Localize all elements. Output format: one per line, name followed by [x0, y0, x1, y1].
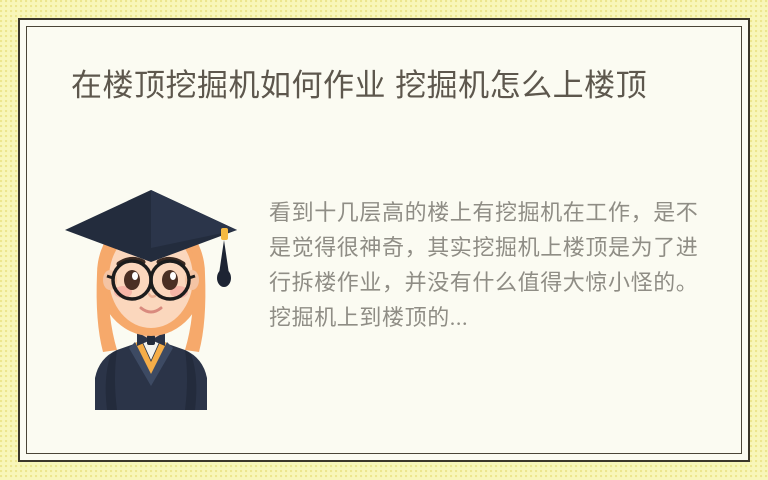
article-body: 看到十几层高的楼上有挖掘机在工作，是不是觉得很神奇，其实挖掘机上楼顶是为了进行拆… [269, 195, 713, 335]
page-root: 在楼顶挖掘机如何作业 挖掘机怎么上楼顶 [0, 0, 768, 480]
article-card-inner: 在楼顶挖掘机如何作业 挖掘机怎么上楼顶 [26, 26, 742, 454]
article-card: 在楼顶挖掘机如何作业 挖掘机怎么上楼顶 [18, 18, 750, 462]
graduate-avatar [55, 182, 247, 410]
page-title: 在楼顶挖掘机如何作业 挖掘机怎么上楼顶 [71, 63, 711, 108]
